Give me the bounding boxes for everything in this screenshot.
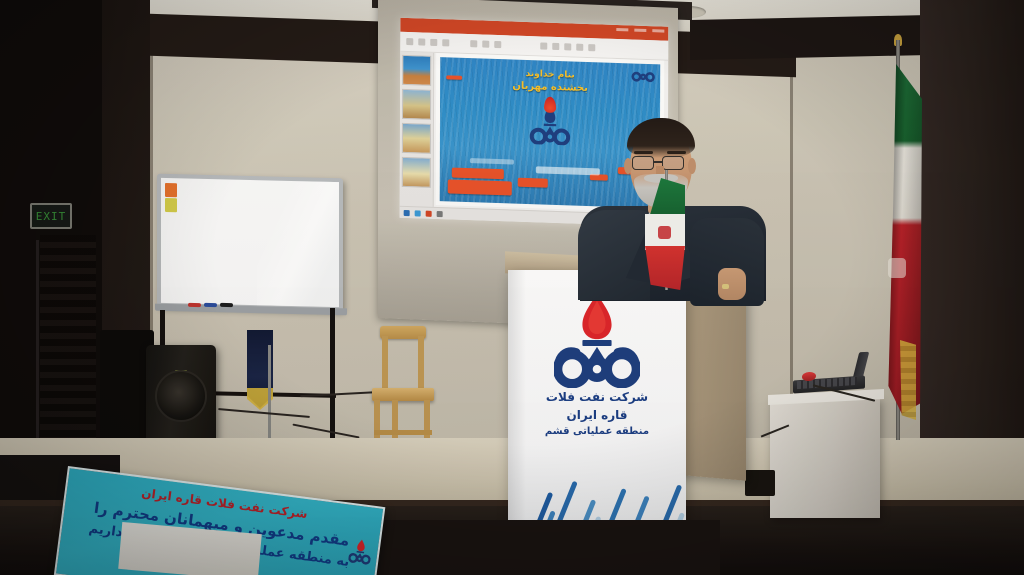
- slide-thumbnail-pane[interactable]: [400, 52, 435, 207]
- iran-emblem-icon: [888, 258, 906, 278]
- dark-column-right: [920, 0, 1024, 470]
- podium-org-line-2: منطقه عملیاتی قشم: [537, 424, 657, 439]
- flag-band-red: [645, 246, 685, 290]
- whiteboard-glare: [257, 180, 339, 307]
- exit-sign-label: EXIT: [36, 210, 67, 223]
- flag-pole: [268, 345, 271, 445]
- taskbar-icon[interactable]: [426, 210, 432, 216]
- podium-branding: شرکت نفت فلات قاره ایران منطقه عملیاتی ق…: [537, 292, 657, 439]
- iran-desk-flag: [645, 178, 685, 290]
- ribbon-tabs: [616, 28, 664, 33]
- slide-thumbnail[interactable]: [402, 89, 431, 120]
- ear: [624, 158, 632, 174]
- eyebrow: [667, 151, 686, 154]
- boat-shape: [452, 168, 504, 180]
- chair-post: [382, 336, 388, 392]
- nioc-logo-icon: [348, 537, 373, 566]
- slide-bismillah-text: بنام خداوند بخشنده مهربان: [512, 68, 588, 96]
- slide-line-2: بخشنده مهربان: [512, 80, 587, 96]
- ring-icon: [722, 284, 729, 289]
- yellow-note-icon: [165, 198, 177, 212]
- taskbar-icon[interactable]: [404, 209, 410, 215]
- taskbar-icon[interactable]: [437, 211, 443, 217]
- conference-hall-photo: EXIT: [0, 0, 1024, 575]
- whiteboard: [157, 174, 343, 312]
- whiteboard-leg: [330, 308, 335, 442]
- exit-sign: EXIT: [30, 203, 72, 229]
- podium-org-line-1: شرکت نفت فلات قاره ایران: [537, 388, 657, 424]
- chair-rail: [374, 430, 432, 435]
- ear: [688, 158, 696, 174]
- red-marker-icon: [188, 303, 201, 307]
- speaker-cone-icon: [155, 370, 207, 422]
- black-marker-icon: [220, 303, 233, 307]
- boat-shape: [448, 179, 512, 195]
- equipment-box: [745, 470, 775, 496]
- eyeglasses-bridge: [654, 161, 662, 163]
- boat-shape: [518, 178, 548, 188]
- side-cabinet: [770, 398, 880, 518]
- slide-thumbnail[interactable]: [402, 157, 431, 188]
- boat-shape: [446, 75, 462, 80]
- eyeglasses-icon: [632, 156, 654, 170]
- podium-org-text: شرکت نفت فلات قاره ایران منطقه عملیاتی ق…: [537, 388, 657, 439]
- eyebrow: [634, 151, 653, 154]
- blue-marker-icon: [204, 303, 217, 307]
- taskbar-icon[interactable]: [415, 210, 421, 216]
- chair-leg: [392, 400, 398, 442]
- nioc-logo-icon: [554, 292, 640, 388]
- louvered-door: [40, 235, 96, 465]
- slide-thumbnail[interactable]: [402, 123, 431, 154]
- nioc-logo-icon: [630, 65, 656, 86]
- iran-standing-flag: [872, 40, 928, 440]
- flag-fringe: [900, 340, 916, 420]
- mic-stand: [36, 240, 39, 470]
- iran-emblem-icon: [658, 226, 671, 239]
- slide-thumbnail[interactable]: [402, 55, 431, 86]
- eyeglasses-icon: [662, 156, 684, 170]
- orange-note-icon: [165, 183, 177, 197]
- flag-band-green: [645, 178, 685, 218]
- chair-post: [418, 336, 424, 392]
- pa-loudspeaker: [146, 345, 216, 443]
- wooden-chair: [372, 326, 434, 450]
